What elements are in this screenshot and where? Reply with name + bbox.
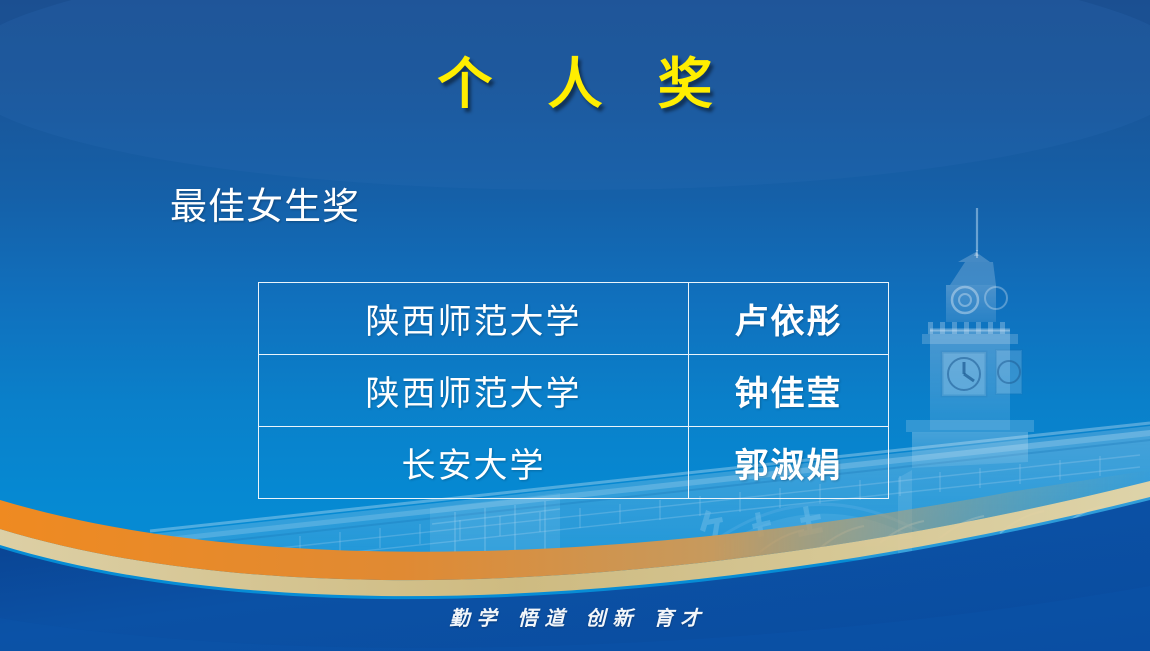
table-row: 长安大学 郭淑娟 — [259, 427, 889, 499]
building-sign — [700, 506, 823, 539]
award-category-label: 最佳女生奖 — [170, 188, 360, 229]
clock-tower — [898, 208, 1034, 560]
clock-face-front — [942, 352, 986, 396]
table-row: 陕西师范大学 钟佳莹 — [259, 355, 889, 427]
cell-name: 钟佳莹 — [689, 355, 889, 427]
cell-school: 长安大学 — [259, 427, 689, 499]
cell-name: 卢依彤 — [689, 283, 889, 355]
table-row: 陕西师范大学 卢依彤 — [259, 283, 889, 355]
presentation-slide: 个 人 奖 最佳女生奖 陕西师范大学 卢依彤 陕西师范大学 钟佳莹 长安大学 郭… — [0, 0, 1150, 651]
award-table: 陕西师范大学 卢依彤 陕西师范大学 钟佳莹 长安大学 郭淑娟 — [258, 282, 889, 499]
cell-school: 陕西师范大学 — [259, 355, 689, 427]
clock-face-side — [996, 350, 1022, 394]
slide-title: 个 人 奖 — [0, 57, 1150, 112]
cell-name: 郭淑娟 — [689, 427, 889, 499]
cell-school: 陕西师范大学 — [259, 283, 689, 355]
footer-motto: 勤学 悟道 创新 育才 — [0, 602, 1150, 631]
